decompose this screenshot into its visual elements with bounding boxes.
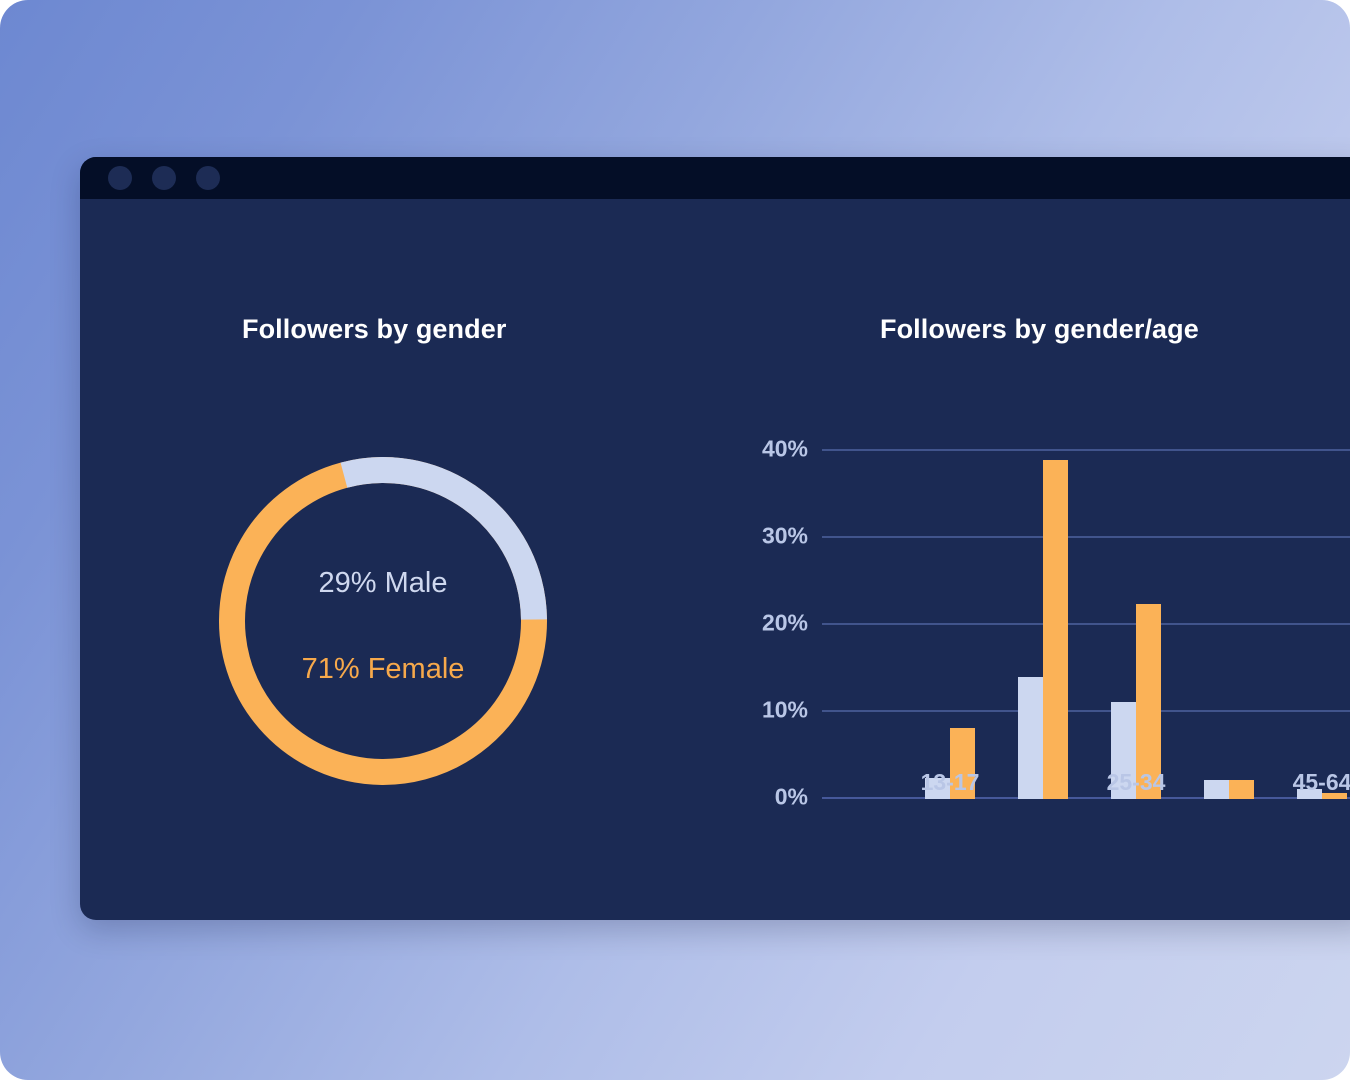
donut-slice-male <box>217 455 549 787</box>
window-titlebar <box>80 157 1350 199</box>
y-tick-label-40: 40% <box>762 436 808 463</box>
bar-plot-area <box>822 451 1350 799</box>
bar-male-18-24[interactable] <box>1018 677 1043 799</box>
app-window: Followers by gender 29% Male 71% Female … <box>80 157 1350 920</box>
followers-by-gender-donut-chart: 29% Male 71% Female <box>217 455 549 787</box>
y-tick-label-30: 30% <box>762 523 808 550</box>
y-tick-label-0: 0% <box>775 784 808 811</box>
x-tick-label-45-64: 45-64 <box>1293 769 1350 796</box>
donut-svg <box>217 455 549 787</box>
bar-female-35-44[interactable] <box>1229 780 1254 799</box>
maximize-dot-icon[interactable] <box>196 166 220 190</box>
y-tick-label-20: 20% <box>762 610 808 637</box>
bar-female-18-24[interactable] <box>1043 460 1068 799</box>
donut-male-label: 29% Male <box>217 567 549 600</box>
y-tick-label-10: 10% <box>762 697 808 724</box>
close-dot-icon[interactable] <box>108 166 132 190</box>
donut-female-label: 71% Female <box>217 653 549 686</box>
followers-by-gender-title: Followers by gender <box>242 314 506 345</box>
followers-by-gender-age-bar-chart: 40% 30% 20% 10% 0% <box>740 399 1350 799</box>
page-root: Followers by gender 29% Male 71% Female … <box>0 0 1350 1080</box>
donut-slice-female <box>217 455 549 787</box>
followers-by-gender-age-title: Followers by gender/age <box>880 314 1199 345</box>
bar-male-35-44[interactable] <box>1204 780 1229 799</box>
x-tick-label-13-17: 13-17 <box>921 769 980 796</box>
minimize-dot-icon[interactable] <box>152 166 176 190</box>
dashboard-content: Followers by gender 29% Male 71% Female … <box>80 199 1350 920</box>
x-tick-label-25-34: 25-34 <box>1107 769 1166 796</box>
